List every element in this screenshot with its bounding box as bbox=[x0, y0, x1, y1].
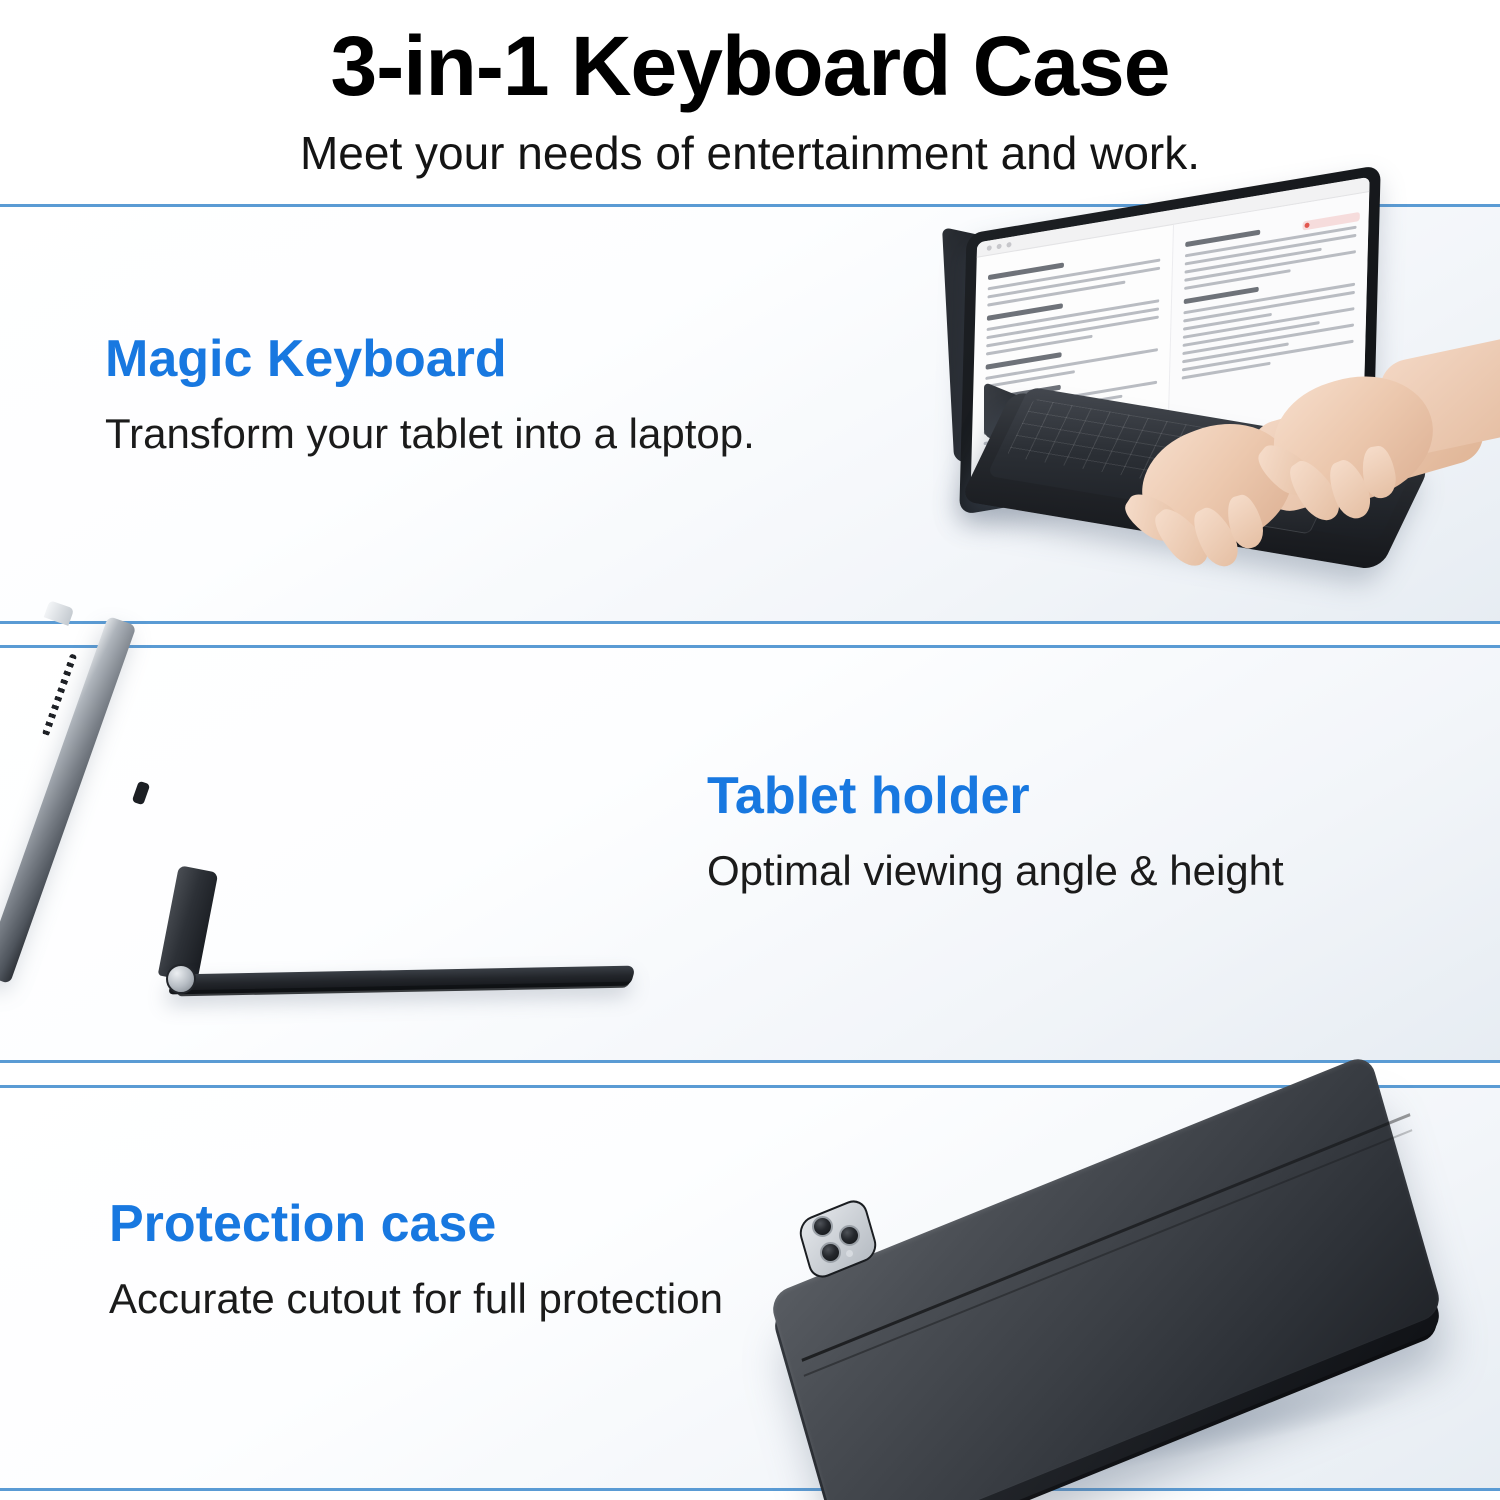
feature-subheading: Transform your tablet into a laptop. bbox=[105, 385, 755, 455]
page-title: 3-in-1 Keyboard Case bbox=[0, 0, 1500, 108]
feature-text-block: Tablet holder Optimal viewing angle & he… bbox=[707, 770, 1284, 892]
header: 3-in-1 Keyboard Case Meet your needs of … bbox=[0, 0, 1500, 196]
page-subtitle: Meet your needs of entertainment and wor… bbox=[0, 108, 1500, 176]
product-infographic: 3-in-1 Keyboard Case Meet your needs of … bbox=[0, 0, 1500, 1500]
feature-panel-magic-keyboard: Magic Keyboard Transform your tablet int… bbox=[0, 204, 1500, 624]
feature-text-block: Protection case Accurate cutout for full… bbox=[109, 1198, 723, 1320]
feature-heading: Protection case bbox=[109, 1198, 723, 1250]
feature-heading: Tablet holder bbox=[707, 770, 1284, 822]
feature-subheading: Accurate cutout for full protection bbox=[109, 1250, 723, 1320]
feature-panel-protection-case: Protection case Accurate cutout for full… bbox=[0, 1085, 1500, 1491]
feature-heading: Magic Keyboard bbox=[105, 333, 755, 385]
feature-subheading: Optimal viewing angle & height bbox=[707, 822, 1284, 892]
feature-panel-tablet-holder: Tablet holder Optimal viewing angle & he… bbox=[0, 645, 1500, 1063]
feature-text-block: Magic Keyboard Transform your tablet int… bbox=[105, 333, 755, 455]
